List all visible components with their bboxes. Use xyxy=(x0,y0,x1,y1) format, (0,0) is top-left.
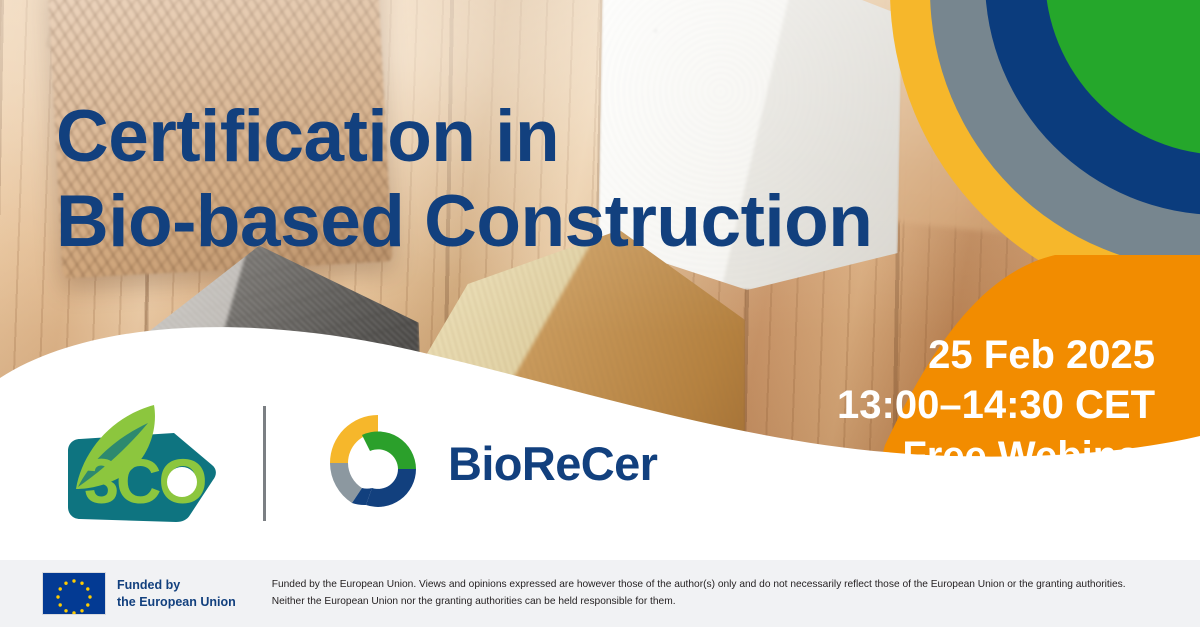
banner-title: Certification in Bio-based Construction xyxy=(56,95,956,264)
event-time: 13:00–14:30 CET xyxy=(735,380,1155,430)
event-details: 25 Feb 2025 13:00–14:30 CET Free Webinar xyxy=(735,330,1155,481)
eu-funding-line-2: the European Union xyxy=(117,594,236,611)
mark-arc-navy xyxy=(366,469,416,507)
webinar-banner: Certification in Bio-based Construction … xyxy=(0,0,1200,627)
disclaimer-line-2: Neither the European Union nor the grant… xyxy=(272,594,1126,611)
disclaimer-line-1: Funded by the European Union. Views and … xyxy=(272,577,1126,594)
funding-disclaimer: Funded by the European Union. Views and … xyxy=(272,577,1126,610)
logo-biorecer-mark xyxy=(322,407,434,519)
logo-biorecer-wordmark: BioReCer xyxy=(448,436,657,491)
title-line-1: Certification in xyxy=(56,95,956,180)
eu-funding-label: Funded by the European Union xyxy=(117,577,236,610)
event-type: Free Webinar xyxy=(735,431,1155,481)
eu-flag-icon xyxy=(42,572,106,615)
eu-funding-line-1: Funded by xyxy=(117,577,236,594)
mark-arc-green xyxy=(362,431,416,469)
eu-stars xyxy=(43,573,105,614)
logo-3co: 3CO xyxy=(62,403,227,523)
logo-3co-inner-circle xyxy=(167,467,197,497)
eu-funding-logo: Funded by the European Union xyxy=(42,572,236,615)
logo-biorecer: BioReCer xyxy=(322,407,657,519)
logo-row: 3CO BioReCer xyxy=(62,398,657,528)
logo-divider xyxy=(263,406,266,521)
event-date: 25 Feb 2025 xyxy=(735,330,1155,380)
title-line-2: Bio-based Construction xyxy=(56,180,956,265)
footer: Funded by the European Union Funded by t… xyxy=(0,560,1200,627)
